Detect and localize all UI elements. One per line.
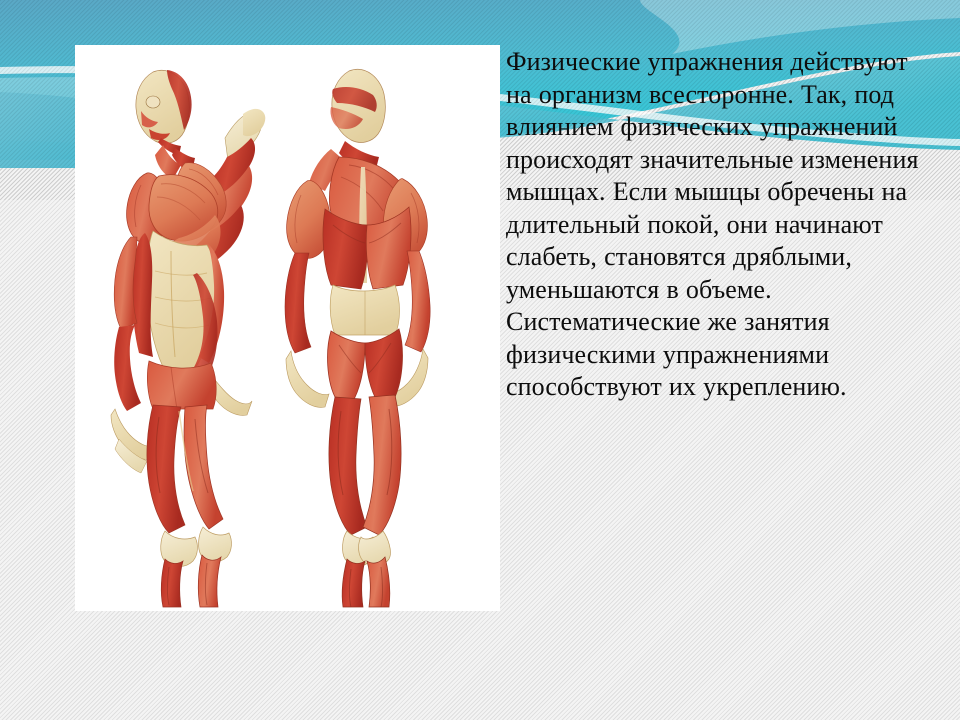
picture-card bbox=[75, 45, 500, 611]
body-text-block: Физические упражнения действуют на орган… bbox=[506, 46, 936, 404]
slide-canvas: Физические упражнения действуют на орган… bbox=[0, 0, 960, 720]
human-muscular-system-illustration bbox=[75, 45, 500, 611]
body-text: Физические упражнения действуют на орган… bbox=[506, 46, 936, 404]
